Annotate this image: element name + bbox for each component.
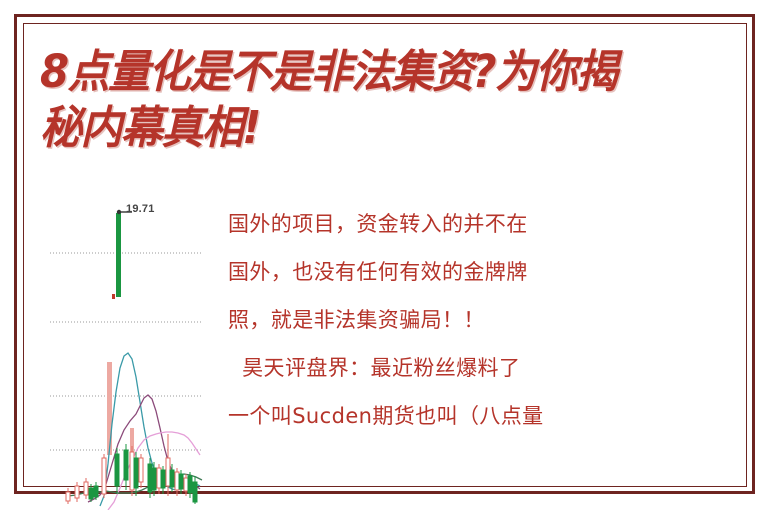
chart-gridlines [50,253,202,450]
highlight-candle [112,210,132,299]
stock-chart [46,196,228,510]
article-line: 一个叫Sucden期货也叫（八点量 [228,392,658,440]
price-annotation: 19.71 [126,203,155,215]
candlestick-chart-svg [46,196,228,510]
page-title-line-1: 8点量化是不是非法集资?为你揭 [40,44,768,100]
article-line: 照，就是非法集资骗局！！ [228,296,658,344]
page-title-line-2: 秘内幕真相! [40,100,768,156]
article-line: 国外的项目，资金转入的并不在 [228,200,658,248]
article-body: 国外的项目，资金转入的并不在 国外，也没有任何有效的金牌牌 照，就是非法集资骗局… [228,200,658,440]
poster-canvas: 8点量化是不是非法集资?为你揭 秘内幕真相! 国外的项目，资金转入的并不在 国外… [0,0,768,510]
article-line: 国外，也没有任何有效的金牌牌 [228,248,658,296]
page-title: 8点量化是不是非法集资?为你揭 秘内幕真相! [40,44,768,156]
article-line: 昊天评盘界：最近粉丝爆料了 [228,344,658,392]
